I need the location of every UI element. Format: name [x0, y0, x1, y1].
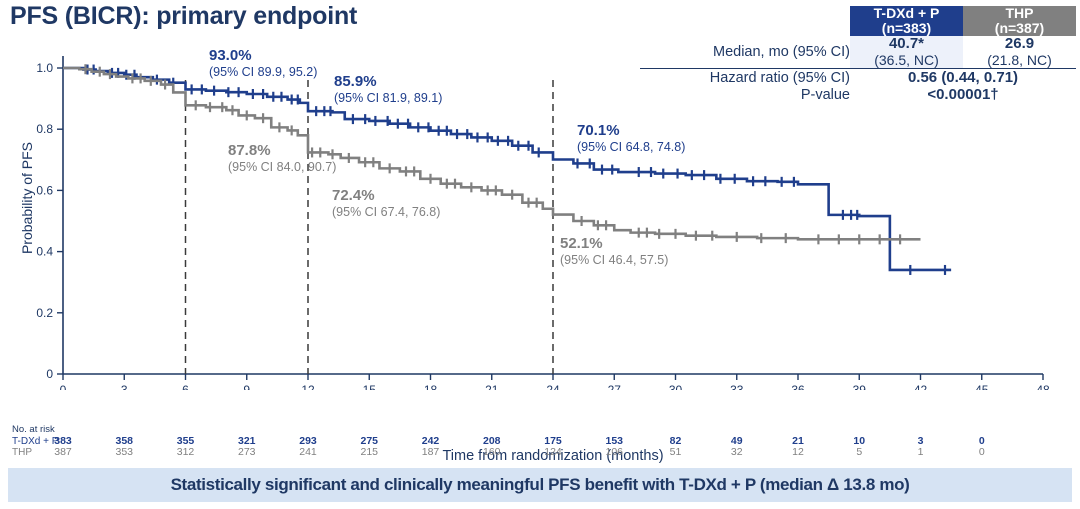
- svg-text:24: 24: [546, 383, 560, 390]
- risk-value-b: 387: [48, 446, 78, 458]
- svg-text:48: 48: [1036, 383, 1050, 390]
- svg-text:33: 33: [730, 383, 744, 390]
- svg-text:15: 15: [363, 383, 377, 390]
- svg-text:1.0: 1.0: [36, 61, 53, 75]
- conclusion-banner: Statistically significant and clinically…: [8, 468, 1072, 502]
- annotation-gray-12mo: 72.4% (95% CI 67.4, 76.8): [332, 188, 440, 219]
- annotation-blue-6mo: 93.0% (95% CI 89.9, 95.2): [209, 48, 317, 79]
- slide: PFS (BICR): primary endpoint T-DXd + P (…: [0, 0, 1080, 509]
- svg-text:30: 30: [669, 383, 683, 390]
- page-title: PFS (BICR): primary endpoint: [10, 2, 357, 31]
- svg-text:42: 42: [914, 383, 928, 390]
- risk-value-b: 32: [722, 446, 752, 458]
- svg-text:0.8: 0.8: [36, 122, 53, 136]
- annotation-blue-12mo: 85.9% (95% CI 81.9, 89.1): [334, 74, 442, 105]
- risk-value-b: 353: [109, 446, 139, 458]
- y-axis-label: Probability of PFS: [19, 98, 35, 298]
- svg-text:18: 18: [424, 383, 438, 390]
- risk-value-b: 12: [783, 446, 813, 458]
- stats-col-arm-a: T-DXd + P (n=383): [850, 6, 963, 36]
- risk-value-b: 106: [599, 446, 629, 458]
- svg-text:9: 9: [243, 383, 250, 390]
- svg-text:45: 45: [975, 383, 989, 390]
- svg-text:0.4: 0.4: [36, 245, 53, 259]
- risk-value-b: 312: [171, 446, 201, 458]
- svg-text:21: 21: [485, 383, 499, 390]
- risk-value-b: 5: [844, 446, 874, 458]
- km-svg: 00.20.40.60.81.0036912151821242730333639…: [0, 40, 1080, 390]
- arm-b-name: THP: [963, 6, 1076, 21]
- svg-text:0.6: 0.6: [36, 183, 53, 197]
- svg-text:0.2: 0.2: [36, 306, 53, 320]
- risk-value-b: 0: [967, 446, 997, 458]
- svg-text:6: 6: [182, 383, 189, 390]
- annotation-gray-24mo: 52.1% (95% CI 46.4, 57.5): [560, 236, 668, 267]
- arm-b-n: (n=387): [963, 21, 1076, 36]
- risk-row-label-b: THP: [12, 447, 32, 458]
- risk-value-b: 273: [232, 446, 262, 458]
- annotation-gray-6mo: 87.8% (95% CI 84.0, 90.7): [228, 143, 336, 174]
- arm-a-name: T-DXd + P: [850, 6, 963, 21]
- svg-text:12: 12: [301, 383, 315, 390]
- annotation-blue-24mo: 70.1% (95% CI 64.8, 74.8): [577, 123, 685, 154]
- risk-value-b: 187: [416, 446, 446, 458]
- svg-text:36: 36: [791, 383, 805, 390]
- svg-text:3: 3: [121, 383, 128, 390]
- risk-value-b: 124: [538, 446, 568, 458]
- svg-text:0: 0: [46, 367, 53, 381]
- risk-value-b: 215: [354, 446, 384, 458]
- risk-table-title: No. at risk: [12, 424, 55, 435]
- risk-value-b: 160: [477, 446, 507, 458]
- stats-col-arm-b: THP (n=387): [963, 6, 1076, 36]
- svg-text:39: 39: [853, 383, 867, 390]
- risk-value-b: 51: [661, 446, 691, 458]
- number-at-risk-table: No. at risk T-DXd + P THP 38338735835335…: [0, 424, 1080, 466]
- conclusion-text: Statistically significant and clinically…: [171, 475, 910, 495]
- risk-value-b: 241: [293, 446, 323, 458]
- svg-text:0: 0: [60, 383, 67, 390]
- svg-text:27: 27: [608, 383, 622, 390]
- stats-header-row: T-DXd + P (n=383) THP (n=387): [640, 6, 1076, 36]
- km-plot: 00.20.40.60.81.0036912151821242730333639…: [0, 40, 1080, 390]
- risk-value-b: 1: [906, 446, 936, 458]
- arm-a-n: (n=383): [850, 21, 963, 36]
